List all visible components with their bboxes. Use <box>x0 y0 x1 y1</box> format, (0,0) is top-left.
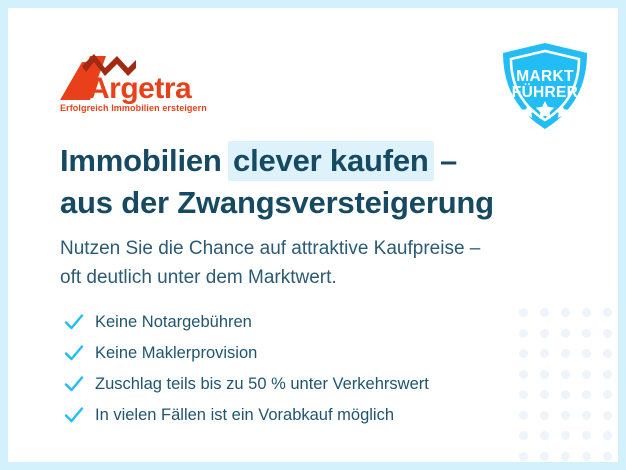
list-item-label: In vielen Fällen ist ein Vorabkauf mögli… <box>95 405 394 425</box>
decoration-dot <box>603 431 612 440</box>
promo-banner: Argetra Erfolgreich Immobilien ersteiger… <box>0 0 626 470</box>
decoration-dot <box>561 308 570 317</box>
list-item-label: Zuschlag teils bis zu 50 % unter Verkehr… <box>95 374 429 394</box>
decoration-dot <box>561 370 570 379</box>
decoration-dot <box>582 452 591 461</box>
decoration-dot <box>519 431 528 440</box>
decoration-dot <box>540 452 549 461</box>
decoration-dot <box>582 411 591 420</box>
decoration-dot <box>519 452 528 461</box>
decoration-dot <box>582 370 591 379</box>
decoration-dot <box>603 308 612 317</box>
decoration-dot <box>561 390 570 399</box>
headline-highlight: clever kaufen <box>228 141 434 181</box>
badge-line2-text: FÜHRER <box>512 84 578 101</box>
decoration-dot <box>603 452 612 461</box>
list-item: Zuschlag teils bis zu 50 % unter Verkehr… <box>63 368 543 399</box>
decoration-dot <box>582 390 591 399</box>
decoration-dot <box>603 390 612 399</box>
decoration-dot <box>561 431 570 440</box>
markt-fuehrer-badge: MARKT FÜHRER <box>497 41 593 131</box>
argetra-roof-logo: Argetra Erfolgreich Immobilien ersteiger… <box>60 52 210 114</box>
subheading-line1: Nutzen Sie die Chance auf attraktive Kau… <box>60 234 580 263</box>
logo-tagline-text: Erfolgreich Immobilien ersteigern <box>60 103 207 113</box>
banner-canvas: Argetra Erfolgreich Immobilien ersteiger… <box>8 8 618 462</box>
decoration-dot <box>603 370 612 379</box>
decoration-dot <box>540 431 549 440</box>
check-icon <box>63 373 85 395</box>
shield-badge-icon: MARKT FÜHRER <box>497 41 593 131</box>
subheading-line2: oft deutlich unter dem Marktwert. <box>60 263 580 292</box>
headline-part2: – <box>432 143 457 178</box>
check-icon <box>63 342 85 364</box>
list-item: In vielen Fällen ist ein Vorabkauf mögli… <box>63 399 543 430</box>
list-item-label: Keine Notargebühren <box>95 312 252 332</box>
decoration-dot <box>582 349 591 358</box>
decoration-dot <box>561 411 570 420</box>
argetra-logo[interactable]: Argetra Erfolgreich Immobilien ersteiger… <box>60 52 210 114</box>
subheading: Nutzen Sie die Chance auf attraktive Kau… <box>60 234 580 292</box>
decoration-dot <box>582 308 591 317</box>
badge-line1-text: MARKT <box>516 68 574 85</box>
check-icon <box>63 404 85 426</box>
decoration-dot <box>582 431 591 440</box>
list-item-label: Keine Maklerprovision <box>95 343 257 363</box>
list-item: Keine Notargebühren <box>63 306 543 337</box>
headline-line2: aus der Zwangsversteigerung <box>60 184 580 222</box>
decoration-dot <box>561 452 570 461</box>
check-icon <box>63 311 85 333</box>
list-item: Keine Maklerprovision <box>63 337 543 368</box>
benefits-list: Keine Notargebühren Keine Maklerprovisio… <box>63 306 543 430</box>
decoration-dot <box>582 329 591 338</box>
decoration-dot <box>603 329 612 338</box>
decoration-dot <box>603 411 612 420</box>
headline-part1: Immobilien <box>60 143 230 178</box>
decoration-dot <box>603 349 612 358</box>
decoration-dot <box>561 349 570 358</box>
svg-text:Argetra: Argetra <box>88 72 192 105</box>
page-title: Immobilien clever kaufen – aus der Zwang… <box>60 142 580 222</box>
decoration-dot <box>561 329 570 338</box>
